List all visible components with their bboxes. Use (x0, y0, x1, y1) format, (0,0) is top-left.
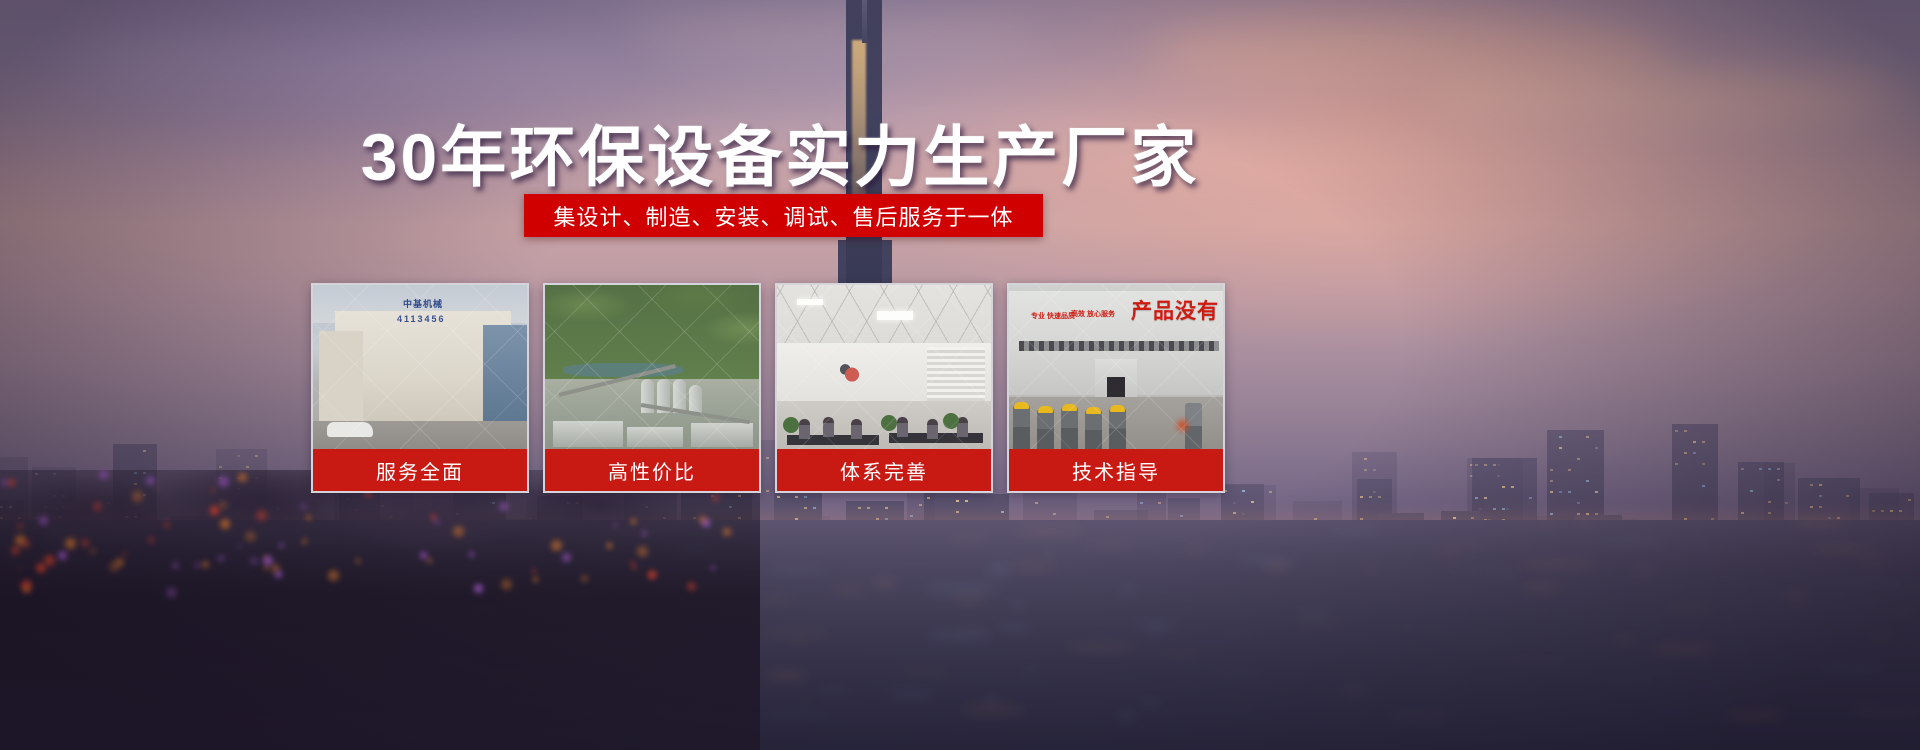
feature-card[interactable]: 中基机械 4113456 服务全面 (311, 283, 529, 493)
page-title: 30年环保设备实力生产厂家 (0, 104, 1560, 200)
subtitle-text: 集设计、制造、安装、调试、售后服务于一体 (553, 200, 1013, 232)
feature-card-list: 中基机械 4113456 服务全面 (311, 283, 1249, 493)
factory-wall-small-2: 高效 放心服务 (1071, 311, 1115, 319)
card-label-text: 服务全面 (376, 456, 464, 485)
card-label-text: 技术指导 (1072, 456, 1160, 485)
hero-banner: 30年环保设备实力生产厂家 集设计、制造、安装、调试、售后服务于一体 中基机械 … (0, 0, 1920, 750)
factory-wall-small-1: 专业 快速品质 (1031, 313, 1075, 321)
factory-wall-slogan: 产品没有 (1131, 295, 1219, 325)
card-photo: 中基机械 4113456 (313, 285, 527, 453)
subtitle-badge: 集设计、制造、安装、调试、售后服务于一体 (524, 194, 1043, 237)
card-label: 高性价比 (545, 449, 759, 491)
card-photo (777, 285, 991, 453)
card-label: 服务全面 (313, 449, 527, 491)
card-photo: 产品没有 专业 快速品质 高效 放心服务 (1009, 285, 1223, 453)
feature-card[interactable]: 高性价比 (543, 283, 761, 493)
building-phone: 4113456 (397, 314, 446, 324)
card-photo (545, 285, 759, 453)
card-label-text: 体系完善 (840, 456, 928, 485)
feature-card[interactable]: 产品没有 专业 快速品质 高效 放心服务 (1007, 283, 1225, 493)
building-sign: 中基机械 (373, 297, 473, 310)
banner-content: 30年环保设备实力生产厂家 集设计、制造、安装、调试、售后服务于一体 中基机械 … (0, 0, 1920, 750)
wall-decal (835, 359, 869, 385)
card-label: 技术指导 (1009, 449, 1223, 491)
feature-card[interactable]: 体系完善 (775, 283, 993, 493)
card-label: 体系完善 (777, 449, 991, 491)
card-label-text: 高性价比 (608, 456, 696, 485)
